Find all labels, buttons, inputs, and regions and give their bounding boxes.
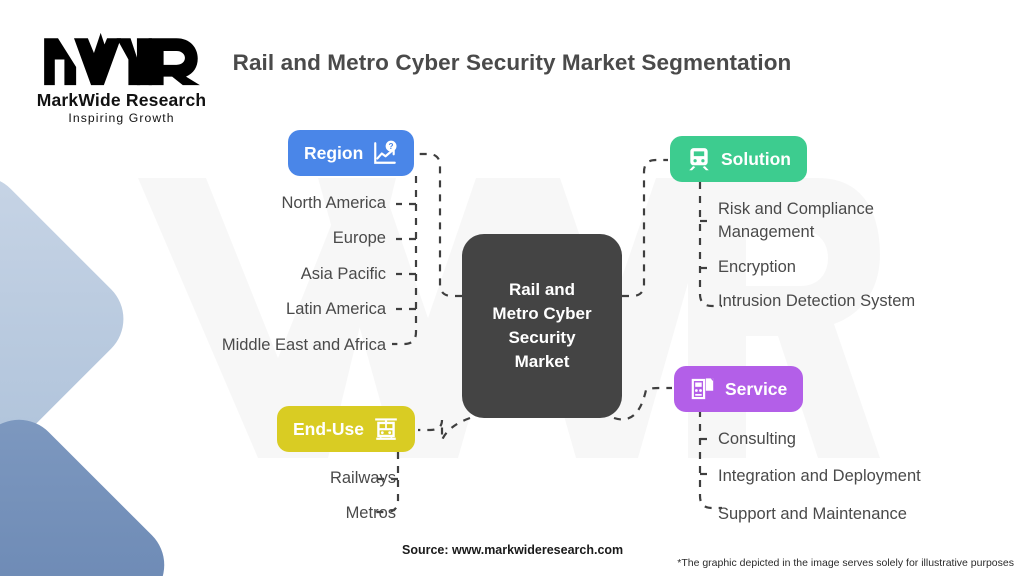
train-document-icon bbox=[690, 376, 716, 402]
svg-text:?: ? bbox=[389, 142, 394, 151]
center-line-3: Security bbox=[508, 328, 575, 347]
segment-items-solution: Risk and Compliance Management Encryptio… bbox=[718, 198, 968, 325]
logo-tagline: Inspiring Growth bbox=[24, 111, 219, 125]
list-item: Asia Pacific bbox=[222, 263, 386, 286]
segment-label-solution: Solution bbox=[721, 149, 791, 170]
source-text: Source: www.markwideresearch.com bbox=[402, 543, 623, 557]
segment-items-end-use: Railways Metros bbox=[330, 467, 396, 538]
market-analysis-chart-icon: ? bbox=[372, 140, 398, 166]
list-item: Railways bbox=[330, 467, 396, 490]
train-front-icon bbox=[686, 146, 712, 172]
segment-items-service: Consulting Integration and Deployment Su… bbox=[718, 428, 980, 540]
center-line-1: Rail and bbox=[509, 280, 575, 299]
list-item: Middle East and Africa bbox=[222, 334, 386, 357]
page-title: Rail and Metro Cyber Security Market Seg… bbox=[0, 50, 1024, 76]
segment-label-end-use: End-Use bbox=[293, 419, 364, 440]
list-item: Europe bbox=[222, 227, 386, 250]
list-item: Integration and Deployment bbox=[718, 465, 980, 488]
segment-items-region: North America Europe Asia Pacific Latin … bbox=[222, 192, 386, 369]
center-line-2: Metro Cyber bbox=[492, 304, 591, 323]
list-item: North America bbox=[222, 192, 386, 215]
center-node-label: Rail and Metro Cyber Security Market bbox=[492, 278, 591, 375]
center-line-4: Market bbox=[515, 352, 570, 371]
tram-car-icon bbox=[373, 416, 399, 442]
segment-label-region: Region bbox=[304, 143, 363, 164]
list-item: Support and Maintenance bbox=[718, 503, 980, 526]
segment-badge-region[interactable]: Region ? bbox=[288, 130, 414, 176]
brand-logo: MarkWide Research Inspiring Growth bbox=[24, 28, 219, 125]
list-item: Intrusion Detection System bbox=[718, 290, 968, 313]
segment-label-service: Service bbox=[725, 379, 787, 400]
segment-badge-solution[interactable]: Solution bbox=[670, 136, 807, 182]
list-item: Risk and Compliance Management bbox=[718, 198, 968, 245]
list-item: Consulting bbox=[718, 428, 980, 451]
segment-badge-end-use[interactable]: End-Use bbox=[277, 406, 415, 452]
center-node: Rail and Metro Cyber Security Market bbox=[462, 234, 622, 418]
disclaimer-text: *The graphic depicted in the image serve… bbox=[677, 557, 1014, 569]
logo-company-name: MarkWide Research bbox=[24, 91, 219, 109]
list-item: Latin America bbox=[222, 298, 386, 321]
segment-badge-service[interactable]: Service bbox=[674, 366, 803, 412]
list-item: Encryption bbox=[718, 256, 968, 279]
list-item: Metros bbox=[330, 502, 396, 525]
